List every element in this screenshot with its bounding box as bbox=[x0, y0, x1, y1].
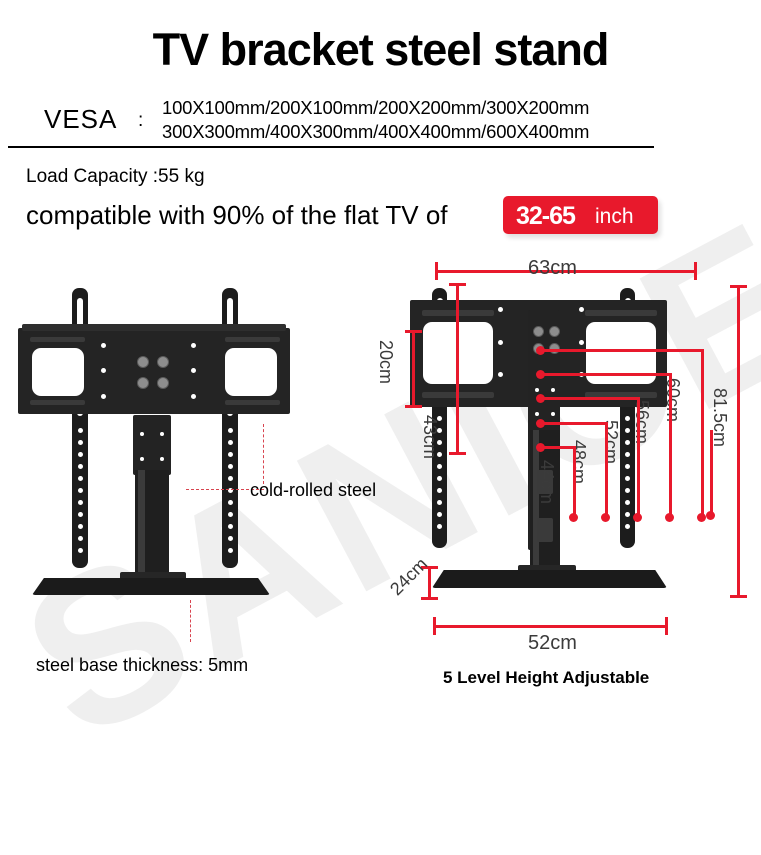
dim-label-level-52: 52cm bbox=[600, 420, 621, 464]
neck-bracket bbox=[133, 415, 171, 475]
right-panel-caption: 5 Level Height Adjustable bbox=[443, 668, 649, 688]
dim-label-level-60: 60cm bbox=[662, 378, 683, 422]
dim-label-level-44: 44cm bbox=[536, 460, 557, 504]
dim-line-height-815 bbox=[737, 285, 740, 598]
dim-label-plate-20: 20cm bbox=[375, 340, 396, 384]
left-product-illustration: cold-rolled steel steel base thickness: … bbox=[0, 0, 380, 734]
steel-base-plate bbox=[32, 578, 270, 595]
callout-base-thickness: steel base thickness: 5mm bbox=[36, 655, 248, 676]
dim-line-basewidth-52 bbox=[433, 625, 668, 628]
plate-window-left bbox=[32, 348, 84, 396]
dim-label-base-24: 24cm bbox=[386, 554, 432, 600]
center-bolt-2 bbox=[157, 356, 169, 368]
callout-cold-rolled-steel: cold-rolled steel bbox=[250, 480, 376, 501]
center-bolt-3 bbox=[137, 377, 149, 389]
infographic-canvas: SANICE TV bracket steel stand VESA : 100… bbox=[0, 0, 761, 734]
dim-steel-base bbox=[432, 570, 667, 588]
plate-window-right bbox=[225, 348, 277, 396]
dim-label-rail-43: 43cm bbox=[419, 415, 440, 459]
dim-label-level-56: 56cm bbox=[631, 400, 652, 444]
center-bolt-1 bbox=[137, 356, 149, 368]
leader-steel-vertical bbox=[263, 424, 264, 484]
dim-line-plate-20 bbox=[412, 330, 415, 408]
leader-base-vertical bbox=[190, 600, 191, 642]
dim-line-rail-43 bbox=[456, 283, 459, 455]
center-bolt-4 bbox=[157, 377, 169, 389]
dim-label-width-63: 63cm bbox=[528, 257, 577, 280]
dim-label-basewidth-52: 52cm bbox=[528, 632, 577, 655]
right-dimension-diagram: 63cm 20cm 43cm 81.5cm 24cm 52cm 60cm bbox=[380, 0, 761, 734]
